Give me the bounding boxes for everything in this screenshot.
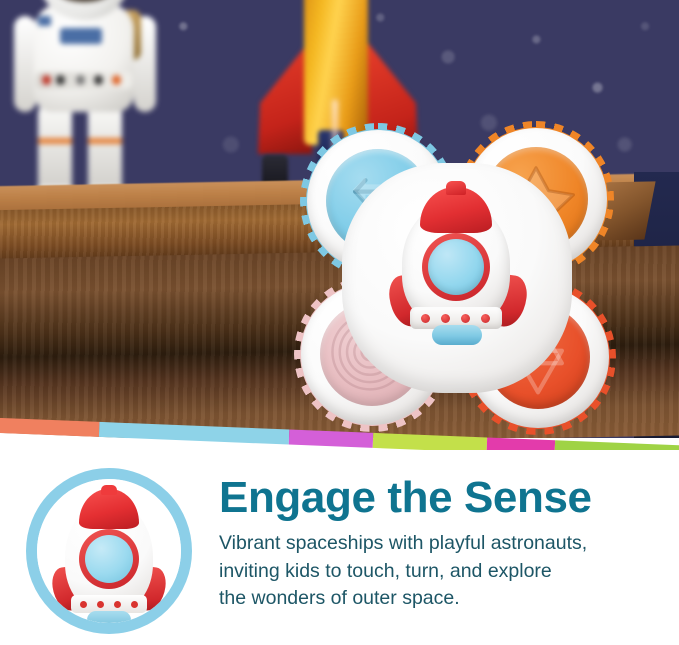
headline: Engage the Sense: [219, 476, 665, 521]
rivet-dot: [114, 601, 121, 608]
product-feature-image: Engage the Sense Vibrant spaceships with…: [0, 0, 679, 645]
body-line: the wonders of outer space.: [219, 587, 460, 609]
rivet-dot: [97, 601, 104, 608]
belt-dot: [76, 75, 85, 85]
badge-inner: [37, 479, 181, 623]
astronaut-shoulder-patch: [38, 16, 51, 26]
rivet-dot: [131, 601, 138, 608]
body-line: Vibrant spaceships with playful astronau…: [219, 532, 587, 554]
belt-dot: [112, 75, 121, 85]
body-line: inviting kids to touch, turn, and explor…: [219, 560, 552, 582]
callout-copy: Engage the Sense Vibrant spaceships with…: [219, 476, 665, 613]
astronaut-leg-stripe-right: [88, 138, 122, 144]
rivet-dot: [441, 314, 450, 323]
astronaut-utility-belt: [36, 72, 132, 89]
center-rocket-tip: [446, 181, 466, 195]
rocket-badge: [26, 468, 192, 634]
belt-dot: [94, 75, 103, 85]
feature-callout-panel: Engage the Sense Vibrant spaceships with…: [0, 450, 679, 645]
rivet-dot: [80, 601, 87, 608]
hero-photo: [0, 0, 679, 438]
center-rocket-porthole: [428, 239, 484, 295]
astronaut-chest-panel: [60, 28, 102, 44]
badge-rocket-nose-cone: [79, 489, 139, 529]
center-rocket: [394, 181, 522, 341]
spinner-toy: [296, 123, 616, 433]
badge-rocket-tip: [101, 485, 117, 495]
belt-dot: [56, 75, 65, 85]
rivet-dot: [461, 314, 470, 323]
belt-dot: [42, 75, 51, 85]
astronaut-leg-stripe-left: [38, 138, 72, 144]
center-rocket-nozzle: [432, 325, 482, 345]
rivet-dot: [481, 314, 490, 323]
badge-rocket-icon: [59, 485, 159, 625]
astronaut-leg-left: [38, 102, 72, 198]
body-copy: Vibrant spaceships with playful astronau…: [219, 530, 665, 613]
badge-rocket-nozzle: [87, 611, 131, 629]
badge-rocket-porthole: [85, 535, 133, 583]
astronaut-figurine: [0, 0, 176, 210]
astronaut-arm-left: [14, 16, 36, 112]
rivet-dot: [421, 314, 430, 323]
